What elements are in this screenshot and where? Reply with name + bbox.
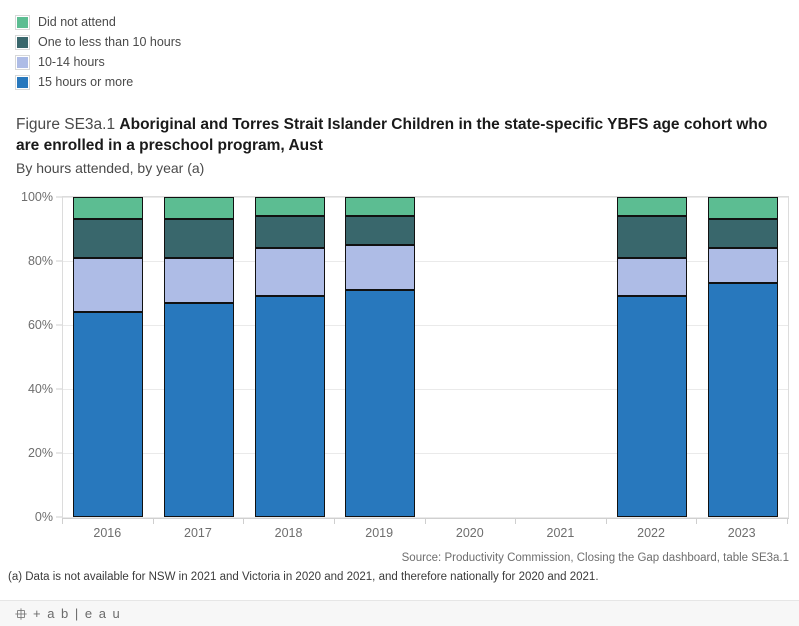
chart-area: 0%20%40%60%80%100% — [10, 196, 789, 518]
legend-swatch-icon — [16, 16, 29, 29]
x-axis-tick-label: 2019 — [365, 526, 393, 540]
x-axis-tick-label: 2020 — [456, 526, 484, 540]
x-axis-tick-label: 2016 — [93, 526, 121, 540]
x-axis-tick-mark — [62, 518, 63, 524]
bar-band — [154, 197, 245, 517]
bar-segment[interactable] — [345, 245, 415, 290]
bar-segment[interactable] — [708, 219, 778, 248]
x-axis-line — [62, 518, 789, 519]
y-axis-tick-mark — [56, 453, 62, 454]
bar-band — [63, 197, 154, 517]
bar-segment[interactable] — [345, 216, 415, 245]
legend-item-10-14-hours[interactable]: 10-14 hours — [16, 52, 446, 72]
x-axis-tick-mark — [243, 518, 244, 524]
figure-number: Figure SE3a.1 — [16, 116, 115, 133]
bar-band — [426, 197, 517, 517]
bar-segment[interactable] — [255, 248, 325, 296]
page-title: Figure SE3a.1 Aboriginal and Torres Stra… — [16, 114, 786, 156]
x-axis-tick-mark — [153, 518, 154, 524]
bar-band — [516, 197, 607, 517]
y-axis-tick-label: 80% — [3, 254, 53, 268]
bar-band — [697, 197, 788, 517]
x-axis: 20162017201820192020202120222023 — [10, 518, 789, 546]
legend-item-label: 10-14 hours — [38, 52, 105, 72]
x-axis-tick-label: 2021 — [547, 526, 575, 540]
y-axis-tick-label: 40% — [3, 382, 53, 396]
bar-segment[interactable] — [73, 258, 143, 312]
legend-swatch-icon — [16, 56, 29, 69]
stacked-bar[interactable] — [73, 197, 143, 517]
legend-item-label: One to less than 10 hours — [38, 32, 181, 52]
x-axis-tick-label: 2022 — [637, 526, 665, 540]
bar-band — [244, 197, 335, 517]
y-axis-tick-label: 100% — [3, 190, 53, 204]
bar-segment[interactable] — [164, 197, 234, 219]
title-block: Figure SE3a.1 Aboriginal and Torres Stra… — [16, 114, 786, 179]
source-note: Source: Productivity Commission, Closing… — [402, 552, 789, 564]
x-axis-tick-label: 2017 — [184, 526, 212, 540]
legend-swatch-icon — [16, 76, 29, 89]
bar-band — [335, 197, 426, 517]
bar-segment[interactable] — [164, 258, 234, 303]
bar-segment[interactable] — [617, 258, 687, 296]
y-axis-tick-label: 60% — [3, 318, 53, 332]
page-subtitle: By hours attended, by year (a) — [16, 158, 786, 179]
bar-segment[interactable] — [708, 283, 778, 517]
legend-item-label: Did not attend — [38, 12, 116, 32]
stacked-bar[interactable] — [164, 197, 234, 517]
footnote: (a) Data is not available for NSW in 202… — [8, 571, 599, 583]
title-text: Aboriginal and Torres Strait Islander Ch… — [16, 116, 767, 154]
bar-segment[interactable] — [164, 219, 234, 257]
tableau-wordmark: + a b | e a u — [33, 606, 121, 621]
y-axis-tick-label: 20% — [3, 446, 53, 460]
bar-segment[interactable] — [617, 216, 687, 258]
bar-segment[interactable] — [345, 197, 415, 216]
x-axis-tick-mark — [515, 518, 516, 524]
bar-segment[interactable] — [708, 248, 778, 283]
legend-swatch-icon — [16, 36, 29, 49]
x-axis-tick-label: 2018 — [275, 526, 303, 540]
y-axis-tick-mark — [56, 389, 62, 390]
bar-segment[interactable] — [708, 197, 778, 219]
x-axis-tick-mark — [425, 518, 426, 524]
bar-segment[interactable] — [255, 296, 325, 517]
x-axis-tick-mark — [787, 518, 788, 524]
x-axis-tick-label: 2023 — [728, 526, 756, 540]
bar-segment[interactable] — [617, 197, 687, 216]
stacked-bar[interactable] — [617, 197, 687, 517]
legend-item-one-to-less-than-10-hours[interactable]: One to less than 10 hours — [16, 32, 446, 52]
tableau-glyph-icon — [14, 607, 28, 621]
y-axis-tick-mark — [56, 325, 62, 326]
legend-item-15-hours-or-more[interactable]: 15 hours or more — [16, 72, 446, 92]
y-axis-tick-mark — [56, 261, 62, 262]
bar-segment[interactable] — [255, 216, 325, 248]
stacked-bar[interactable] — [255, 197, 325, 517]
legend-item-label: 15 hours or more — [38, 72, 133, 92]
bar-segment[interactable] — [164, 303, 234, 517]
legend-item-did-not-attend[interactable]: Did not attend — [16, 12, 446, 32]
bar-segment[interactable] — [345, 290, 415, 517]
bar-segment[interactable] — [73, 219, 143, 257]
legend: Did not attend One to less than 10 hours… — [16, 12, 446, 92]
x-axis-tick-mark — [606, 518, 607, 524]
stacked-bar[interactable] — [708, 197, 778, 517]
bar-segment[interactable] — [255, 197, 325, 216]
x-axis-tick-mark — [334, 518, 335, 524]
x-axis-tick-mark — [696, 518, 697, 524]
tableau-statusbar: + a b | e a u — [0, 600, 799, 626]
bar-segment[interactable] — [73, 312, 143, 517]
bar-segment[interactable] — [73, 197, 143, 219]
bar-segment[interactable] — [617, 296, 687, 517]
tableau-logo[interactable]: + a b | e a u — [14, 606, 121, 621]
plot-inner — [63, 197, 788, 517]
bar-band — [607, 197, 698, 517]
y-axis-tick-mark — [56, 197, 62, 198]
chart-page: Did not attend One to less than 10 hours… — [0, 0, 799, 626]
stacked-bar[interactable] — [345, 197, 415, 517]
bar-series-group — [63, 197, 788, 517]
